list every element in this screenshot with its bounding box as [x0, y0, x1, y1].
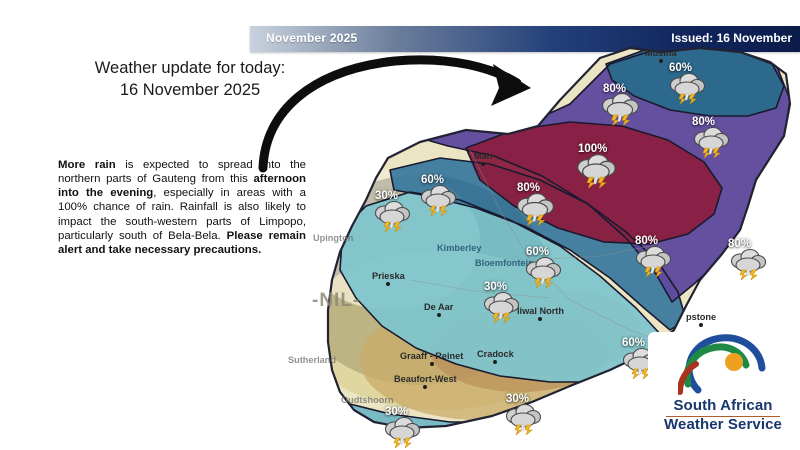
body-bold-1: More rain — [58, 159, 116, 171]
weather-update-slide: -NIL- MusinaMahUpingtonKimberleyBloemfon… — [0, 0, 800, 450]
forecast-description: More rain is expected to spread into the… — [58, 158, 306, 257]
logo-line-2: Weather Service — [648, 415, 798, 434]
title-line-1: Weather update for today: — [60, 58, 320, 80]
logo-text: South African Weather Service — [648, 396, 798, 434]
saws-swirl-icon — [678, 334, 770, 396]
title-line-2: 16 November 2025 — [60, 80, 320, 102]
nil-rainfall-label: -NIL- — [312, 290, 360, 312]
page-title: Weather update for today: 16 November 20… — [60, 58, 320, 102]
logo-line-1: South African — [648, 396, 798, 415]
saws-logo: South African Weather Service — [648, 332, 798, 444]
